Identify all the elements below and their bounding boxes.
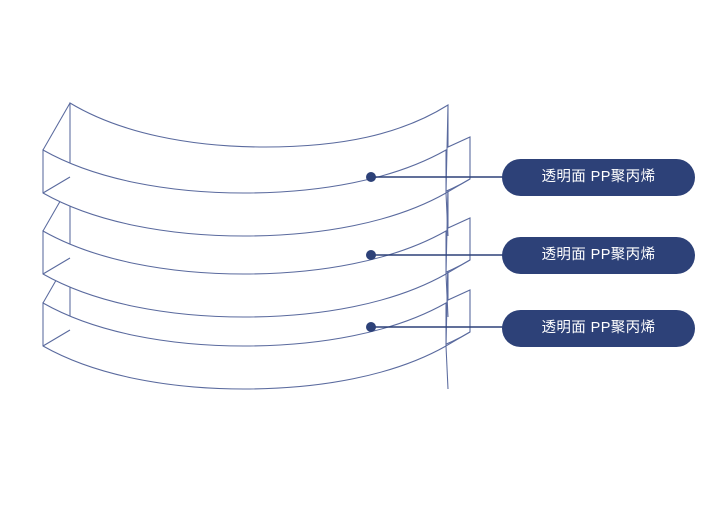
callout-pill-2[interactable]: 透明面 PP聚丙烯 [502,237,695,274]
callout-pill-3-label: 透明面 PP聚丙烯 [542,321,656,336]
top-sheet-left-edge [43,103,70,150]
leader-dot-2[interactable] [366,250,376,260]
callout-pill-3[interactable]: 透明面 PP聚丙烯 [502,310,695,347]
bottom-sheet-right-tip-fold [446,346,448,389]
callout-pill-1[interactable]: 透明面 PP聚丙烯 [502,159,695,196]
leader-dot-3[interactable] [366,322,376,332]
leader-dot-1[interactable] [366,172,376,182]
callout-pill-2-label: 透明面 PP聚丙烯 [542,248,656,263]
callout-pill-1-label: 透明面 PP聚丙烯 [542,170,656,185]
diagram-canvas: 透明面 PP聚丙烯 透明面 PP聚丙烯 透明面 PP聚丙烯 [0,0,712,505]
